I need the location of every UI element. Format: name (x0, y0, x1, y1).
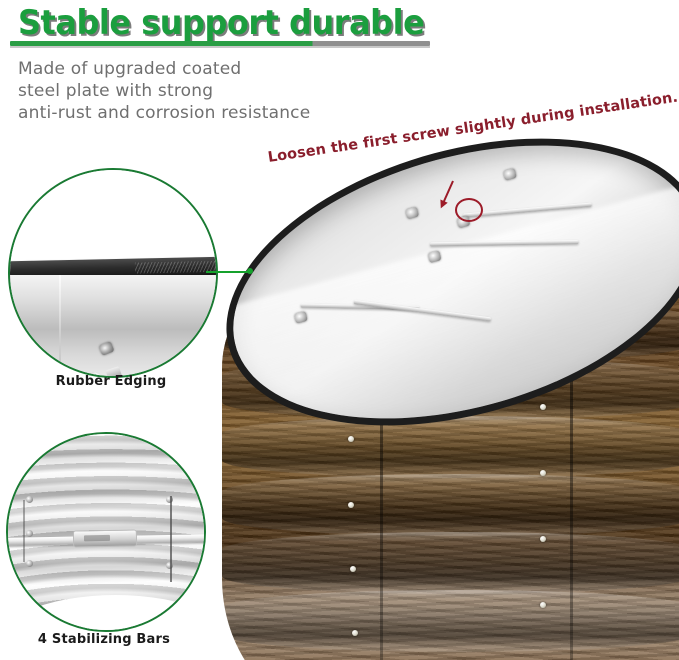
stabilizing-bars-detail-circle (6, 432, 206, 632)
bed-rib (222, 532, 679, 594)
bed-rib (222, 474, 679, 536)
page-title: Stable support durable (18, 2, 424, 44)
panel-edge-line (170, 496, 172, 582)
screw-icon (98, 341, 114, 356)
screw-icon (26, 496, 33, 503)
screw-icon (352, 630, 358, 636)
panel-edge-line (23, 500, 25, 562)
bar-coupler (73, 529, 137, 547)
rubber-edging-detail-circle (8, 168, 218, 378)
bed-rib (222, 590, 679, 652)
screw-icon (503, 168, 517, 181)
callout-caption-rubber-edging: Rubber Edging (8, 374, 214, 389)
screw-icon (405, 207, 419, 220)
title-underline-shadow (10, 46, 430, 48)
callout-caption-stabilizing-bars: 4 Stabilizing Bars (6, 632, 202, 647)
steel-panel-surface (8, 275, 218, 378)
callout-connector-dot (247, 268, 253, 274)
screw-icon (26, 530, 33, 537)
screw-icon (540, 470, 546, 476)
product-infographic: Stable support durable Made of upgraded … (0, 0, 679, 660)
subtitle-text: Made of upgraded coated steel plate with… (18, 58, 448, 124)
screw-icon (540, 404, 546, 410)
detail-background (10, 170, 216, 265)
screw-icon (540, 602, 546, 608)
highlighted-screw-marker (455, 198, 483, 222)
screw-icon (540, 536, 546, 542)
screw-icon (350, 566, 356, 572)
screw-icon (348, 502, 354, 508)
screw-icon (26, 560, 33, 567)
callout-connector-line (206, 271, 250, 273)
raised-garden-bed-image (222, 150, 679, 650)
